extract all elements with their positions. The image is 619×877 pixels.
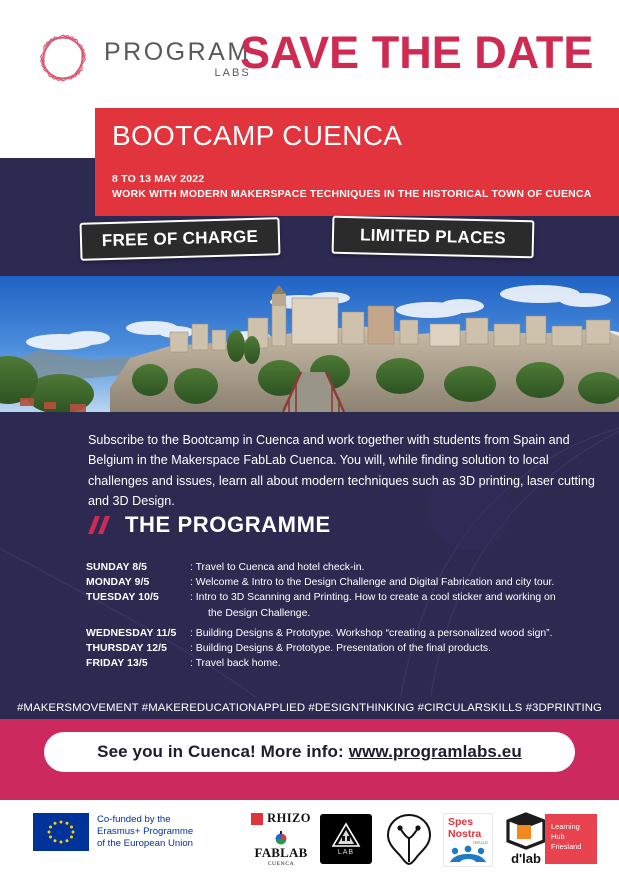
programme-day: SUNDAY 8/5 [86,560,190,575]
bootcamp-dates: 8 TO 13 MAY 2022 [112,172,592,187]
learning-hub-friesland-logo: Learning Hub Friesland [545,814,597,864]
nostra-label: Nostra [444,829,492,840]
eu-flag-icon [33,813,89,851]
programme-table: SUNDAY 8/5 : Travel to Cuenca and hotel … [86,560,606,671]
bootcamp-details: 8 TO 13 MAY 2022 WORK WITH MODERN MAKERS… [112,172,592,202]
fablab-sub-label: CUENCA [268,861,295,867]
logo-program-text: PROGRAM [104,40,251,65]
programme-desc: : Building Designs & Prototype. Workshop… [190,626,606,641]
hexagon-rings-icon [34,32,92,90]
spes-people-icon [448,845,488,863]
programme-title: THE PROGRAMME [125,512,331,538]
programme-day: WEDNESDAY 11/5 [86,626,190,641]
bootcamp-title: BOOTCAMP CUENCA [112,120,402,152]
table-row: THURSDAY 12/5 : Building Designs & Proto… [86,641,606,656]
programme-desc: : Travel to Cuenca and hotel check-in. [190,560,606,575]
table-row: TUESDAY 10/5 : Intro to 3D Scanning and … [86,590,606,605]
badge-free-of-charge: FREE OF CHARGE [80,217,281,261]
table-row: FRIDAY 13/5 : Travel back home. [86,656,606,671]
cta-pill[interactable]: See you in Cuenca! More info: www.progra… [44,732,575,772]
erasmus-funding-text: Co-funded by the Erasmus+ Programme of t… [97,814,193,851]
programme-desc-continued: the Design Challenge. [190,606,606,621]
programme-desc: : Welcome & Intro to the Design Challeng… [190,575,606,590]
eu-line-1: Co-funded by the [97,814,193,826]
lab-label: LAB [338,849,354,856]
table-row: SUNDAY 8/5 : Travel to Cuenca and hotel … [86,560,606,575]
rhizo-row: RHIZO [251,811,311,826]
dlab-cube-icon [504,812,548,850]
programme-day: FRIDAY 13/5 [86,656,190,671]
rhizo-square-icon [251,813,263,825]
table-row: MONDAY 9/5 : Welcome & Intro to the Desi… [86,575,606,590]
lab-logo: LAB [320,814,372,864]
lab-mark-icon [331,822,361,848]
double-slash-icon [88,514,112,536]
bootcamp-tagline: WORK WITH MODERN MAKERSPACE TECHNIQUES I… [112,187,592,202]
intro-paragraph: Subscribe to the Bootcamp in Cuenca and … [88,430,600,512]
erasmus-funding-logo: Co-funded by the Erasmus+ Programme of t… [33,813,193,851]
hashtags-bar: #MAKERSMOVEMENT #MAKEREDUCATIONAPPLIED #… [0,697,619,719]
table-row: WEDNESDAY 11/5 : Building Designs & Prot… [86,626,606,641]
programme-day: TUESDAY 10/5 [86,590,190,605]
eu-line-3: of the European Union [97,838,193,850]
programme-desc: : Travel back home. [190,656,606,671]
programme-heading: THE PROGRAMME [88,512,331,538]
program-labs-logo: PROGRAM LABS [34,30,224,92]
programme-day: MONDAY 9/5 [86,575,190,590]
fablab-label: FABLAB [255,845,308,861]
rhizo-fablab-logo: RHIZO FABLAB CUENCA [245,811,317,867]
poster: PROGRAM LABS SAVE THE DATE BOOTCAMP CUEN… [0,0,619,877]
bootcamp-banner: BOOTCAMP CUENCA 8 TO 13 MAY 2022 WORK WI… [95,108,619,216]
website-link[interactable]: www.programlabs.eu [349,742,522,762]
cuenca-photo [0,276,619,412]
poster-footer: Co-funded by the Erasmus+ Programme of t… [0,800,619,877]
spes-label: Spes [444,817,492,828]
programme-desc: : Intro to 3D Scanning and Printing. How… [190,590,606,605]
spes-nostra-logo: Spes Nostra HEULE [443,813,493,867]
eu-line-2: Erasmus+ Programme [97,826,193,838]
lhf-line-1: Learning [551,822,581,832]
fablab-globe-icon [273,831,289,845]
cta-band: See you in Cuenca! More info: www.progra… [0,719,619,800]
programme-day: THURSDAY 12/5 [86,641,190,656]
maker-m-icon [382,812,436,866]
lhf-text: Learning Hub Friesland [551,822,581,852]
logo-labs-text: LABS [104,68,251,79]
cta-lead-text: See you in Cuenca! More info: [97,742,344,762]
maker-m-logo [382,812,436,866]
programme-desc: : Building Designs & Prototype. Presenta… [190,641,606,656]
save-the-date-title: SAVE THE DATE [240,26,593,80]
dlab-label: d'lab [511,851,541,866]
lhf-line-3: Friesland [551,842,581,852]
program-labs-wordmark: PROGRAM LABS [104,40,251,79]
badge-limited-places: LIMITED PLACES [332,216,535,259]
rhizo-label: RHIZO [267,811,311,826]
poster-body: Subscribe to the Bootcamp in Cuenca and … [0,412,619,700]
lhf-line-2: Hub [551,832,581,842]
